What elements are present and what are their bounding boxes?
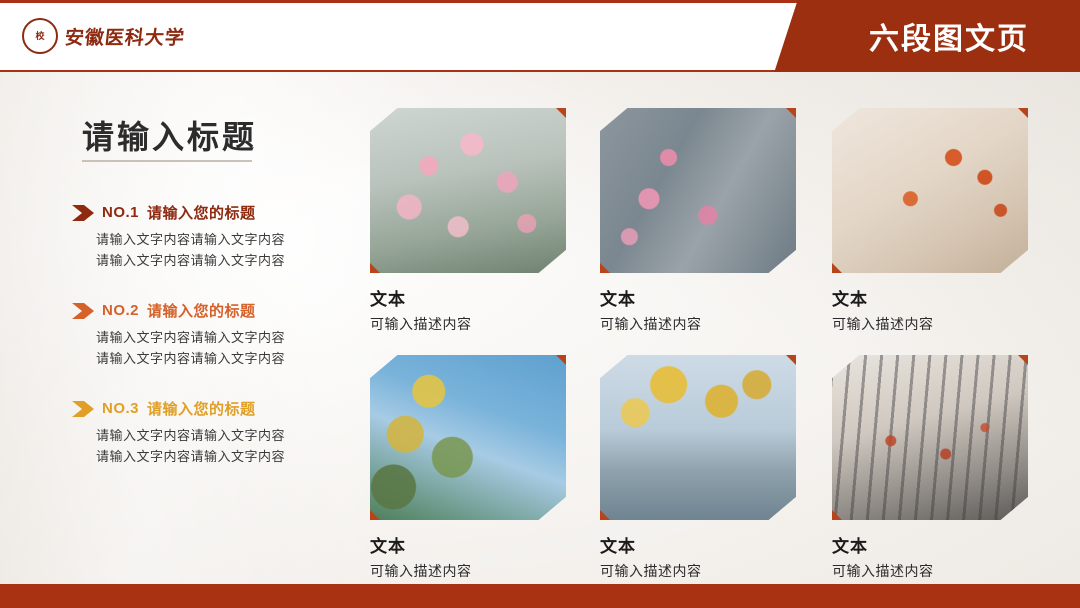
content-cell-2[interactable]: 文本 可输入描述内容 [600, 108, 800, 334]
accent-corner-top-4 [554, 355, 566, 379]
cherry-blossom-photo [370, 108, 566, 273]
accent-corner-top-2 [784, 108, 796, 132]
cell-4-title: 文本 [370, 532, 570, 557]
arrow-right-icon [72, 401, 94, 417]
cell-6-desc: 可输入描述内容 [832, 561, 1032, 581]
list-item-2-number: NO.2 [102, 302, 139, 319]
page-title-block: 六段图文页 [818, 0, 1080, 72]
cell-1-title: 文本 [370, 285, 570, 310]
list-item-1-number: NO.1 [102, 204, 139, 221]
list-item-1[interactable]: NO.1 请输入您的标题 请输入文字内容请输入文字内容 请输入文字内容请输入文字… [72, 202, 372, 272]
accent-corner-top-6 [1016, 355, 1028, 379]
list-item-3-number: NO.3 [102, 400, 139, 417]
content-cell-4[interactable]: 文本 可输入描述内容 [370, 355, 570, 581]
persimmon-branch-photo [832, 108, 1028, 273]
list-item-2-head: NO.2 请输入您的标题 [72, 300, 372, 321]
accent-corner-bottom-4 [370, 496, 382, 520]
list-item-2-label: 请输入您的标题 [147, 300, 256, 321]
accent-corner-top-3 [1016, 108, 1028, 132]
list-item-3-body: 请输入文字内容请输入文字内容 请输入文字内容请输入文字内容 [96, 426, 372, 468]
page-title: 六段图文页 [869, 14, 1029, 58]
cell-4-desc: 可输入描述内容 [370, 561, 570, 581]
photo-frame-4 [370, 355, 566, 520]
cell-2-title: 文本 [600, 285, 800, 310]
autumn-leaves-photo [600, 355, 796, 520]
list-item-1-label: 请输入您的标题 [147, 202, 256, 223]
list-item-2[interactable]: NO.2 请输入您的标题 请输入文字内容请输入文字内容 请输入文字内容请输入文字… [72, 300, 372, 370]
photo-frame-2 [600, 108, 796, 273]
building-branches-photo [832, 355, 1028, 520]
university-seal-icon: 校 [22, 18, 58, 54]
cell-5-desc: 可输入描述内容 [600, 561, 800, 581]
cell-2-desc: 可输入描述内容 [600, 314, 800, 334]
arrow-right-icon [72, 303, 94, 319]
list-item-3-line-1: 请输入文字内容请输入文字内容 [96, 426, 372, 447]
photo-frame-1 [370, 108, 566, 273]
cell-5-title: 文本 [600, 532, 800, 557]
list-item-1-line-1: 请输入文字内容请输入文字内容 [96, 230, 372, 251]
list-item-2-body: 请输入文字内容请输入文字内容 请输入文字内容请输入文字内容 [96, 328, 372, 370]
building-branches-photo-frame [832, 355, 1028, 520]
list-item-3[interactable]: NO.3 请输入您的标题 请输入文字内容请输入文字内容 请输入文字内容请输入文字… [72, 398, 372, 468]
content-cell-1[interactable]: 文本 可输入描述内容 [370, 108, 570, 334]
accent-corner-bottom-5 [600, 496, 612, 520]
list-item-3-line-2: 请输入文字内容请输入文字内容 [96, 447, 372, 468]
accent-corner-top-1 [554, 108, 566, 132]
plum-blossom-photo [600, 108, 796, 273]
accent-corner-bottom-1 [370, 249, 382, 273]
logo-text: 安徽医科大学 [64, 23, 187, 50]
list-item-1-line-2: 请输入文字内容请输入文字内容 [96, 251, 372, 272]
ginkgo-tree-photo [370, 355, 566, 520]
content-cell-5[interactable]: 文本 可输入描述内容 [600, 355, 800, 581]
cell-6-title: 文本 [832, 532, 1032, 557]
accent-corner-bottom-6 [832, 496, 844, 520]
list-item-1-body: 请输入文字内容请输入文字内容 请输入文字内容请输入文字内容 [96, 230, 372, 272]
accent-corner-top-5 [784, 355, 796, 379]
content-cell-6[interactable]: 文本 可输入描述内容 [832, 355, 1032, 581]
photo-frame-3 [832, 108, 1028, 273]
list-item-1-head: NO.1 请输入您的标题 [72, 202, 372, 223]
cell-1-desc: 可输入描述内容 [370, 314, 570, 334]
arrow-right-icon [72, 205, 94, 221]
list-item-3-head: NO.3 请输入您的标题 [72, 398, 372, 419]
university-logo: 校 安徽医科大学 [22, 16, 185, 56]
section-title: 请输入标题 [82, 112, 257, 158]
accent-corner-bottom-3 [832, 249, 844, 273]
section-title-underline [82, 160, 252, 162]
list-item-2-line-2: 请输入文字内容请输入文字内容 [96, 349, 372, 370]
list-item-3-label: 请输入您的标题 [147, 398, 256, 419]
cell-3-desc: 可输入描述内容 [832, 314, 1032, 334]
list-item-2-line-1: 请输入文字内容请输入文字内容 [96, 328, 372, 349]
cell-3-title: 文本 [832, 285, 1032, 310]
bottom-bar [0, 584, 1080, 608]
autumn-leaves-photo-frame [600, 355, 796, 520]
top-bar: 校 安徽医科大学 六段图文页 [0, 0, 1080, 72]
accent-corner-bottom-2 [600, 249, 612, 273]
slide: 校 安徽医科大学 六段图文页 请输入标题 NO.1 请输入您的标题 请输入文字内… [0, 0, 1080, 608]
content-cell-3[interactable]: 文本 可输入描述内容 [832, 108, 1032, 334]
